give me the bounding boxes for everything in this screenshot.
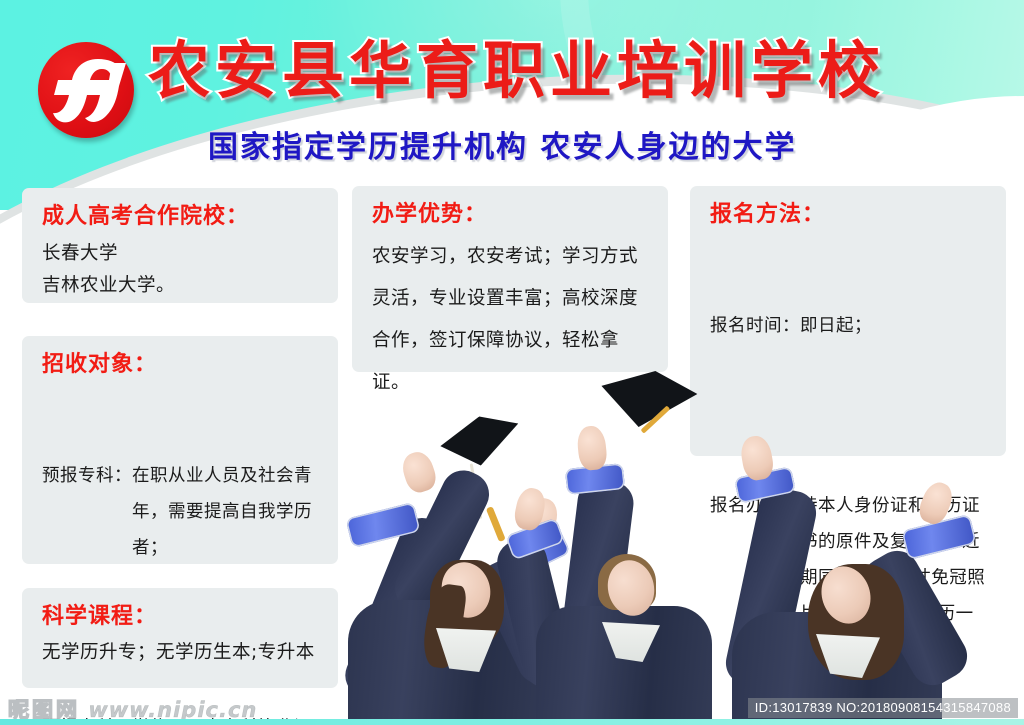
targets-value-1: 在职从业人员及社会青年，需要提高自我学历者；: [132, 458, 320, 566]
mortarboard-cap-left: [432, 404, 527, 478]
graduates-photo: [330, 370, 1024, 720]
poster-canvas: 农安县华育职业培训学校 国家指定学历提升机构 农安人身边的大学 成人高考合作院校…: [0, 0, 1024, 725]
panel-heading-advantages: 办学优势：: [372, 200, 650, 230]
apply-value-1: 即日起；: [800, 308, 988, 344]
panel-body-schools: 长春大学 吉林农业大学。: [42, 238, 320, 302]
bottom-accent-strip: [0, 719, 1024, 725]
image-id-stamp: ID:13017839 NO:20180908154315847088: [748, 698, 1018, 718]
apply-label-1: 报名时间：: [710, 308, 800, 344]
panel-heading-courses: 科学课程：: [42, 602, 320, 632]
targets-label-1: 预报专科：: [42, 458, 132, 566]
panel-advantages: 办学优势： 农安学习，农安考试；学习方式灵活，专业设置丰富；高校深度合作，签订保…: [352, 186, 668, 372]
panel-heading-schools: 成人高考合作院校：: [42, 202, 320, 232]
panel-courses: 科学课程： 无学历升专；无学历生本;专升本: [22, 588, 338, 688]
panel-cooperating-schools: 成人高考合作院校： 长春大学 吉林农业大学。: [22, 188, 338, 303]
page-subtitle: 国家指定学历提升机构 农安人身边的大学: [208, 128, 796, 168]
page-title: 农安县华育职业培训学校: [148, 36, 885, 106]
panel-heading-targets: 招收对象：: [42, 350, 320, 380]
panel-heading-apply: 报名方法：: [710, 200, 988, 230]
panel-body-courses: 无学历升专；无学历生本;专升本: [42, 638, 320, 668]
school-monogram-logo-icon: [38, 42, 134, 138]
mortarboard-cap-right: [594, 370, 700, 435]
panel-admission-targets: 招收对象： 预报专科： 在职从业人员及社会青年，需要提高自我学历者； 预报本科：…: [22, 336, 338, 564]
